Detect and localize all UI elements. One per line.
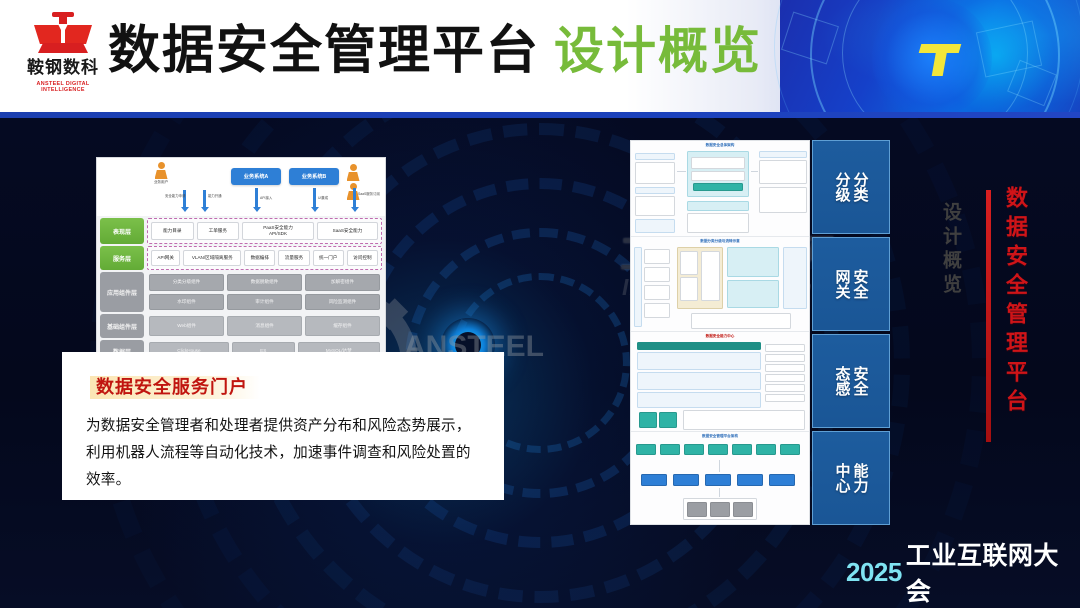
company-name-en: ANSTEEL DIGITAL INTELLIGENCE <box>16 81 110 93</box>
t-node <box>705 474 731 486</box>
t-node <box>680 277 698 301</box>
t-node <box>687 502 707 517</box>
t-node <box>683 410 805 430</box>
arrow-label-3: UI集成 <box>318 196 328 200</box>
thumb-caption: 数据分类分级与流转示意 <box>631 239 809 244</box>
portal-heading: 数据安全服务门户 <box>90 372 256 401</box>
t-node <box>701 251 720 301</box>
t-node <box>732 444 752 455</box>
t-node <box>765 344 805 352</box>
conference-logo-main: 2025 工业互联网大会 <box>846 536 1068 608</box>
t-connector <box>719 488 720 497</box>
t-node <box>641 474 667 486</box>
t-node <box>635 196 675 216</box>
arch-cell: 流量服务 <box>278 250 309 266</box>
arch-cell: SaaS安全能力 <box>317 222 378 240</box>
t-node <box>637 392 761 408</box>
thumb-classification-grading[interactable]: 数据分类分级与流转示意 <box>631 237 809 332</box>
t-node <box>727 280 779 308</box>
portal-description-card: 数据安全服务门户 为数据安全管理者和处理者提供资产分布和风险态势展示，利用机器人… <box>62 352 504 500</box>
t-node <box>687 213 749 233</box>
layer-cells-1: API网关 VLAN/区域隔离服务 数据编排 流量服务 统一门户 访问控制 <box>147 246 382 270</box>
arch-cell: VLAN/区域隔离服务 <box>183 250 241 266</box>
t-node <box>687 201 749 211</box>
arch-cell: Web组件 <box>149 316 224 336</box>
conference-logo: 2025 工业互联网大会 INDUSTRIAL INTERNET CONFERE… <box>846 536 1068 580</box>
header-tech-graphic <box>780 0 1080 116</box>
arrow-capability-request <box>183 190 186 208</box>
vertical-accent-bar <box>986 190 991 442</box>
conference-year: 2025 <box>846 557 902 588</box>
card-col-right: 安全 <box>852 366 869 396</box>
t-connector <box>751 171 758 172</box>
anvil-logo-icon <box>32 12 94 56</box>
portal-heading-text: 数据安全服务门户 <box>96 377 248 398</box>
t-node <box>637 342 761 350</box>
t-node <box>780 444 800 455</box>
arch-cell: 数据编排 <box>244 250 275 266</box>
arrow-capability-open <box>203 190 206 208</box>
t-connector <box>677 171 686 172</box>
t-node <box>644 267 670 282</box>
system-a-label: 业务系统A <box>244 173 269 180</box>
architecture-layer-row: 表现层 能力目录 工单服务 PaaS安全能力 API/SDK SaaS安全能力 <box>100 218 382 244</box>
architecture-layer-row: 应用组件层 分类分级组件 数据脱敏组件 加解密组件 水印组件 审计组件 风险监测… <box>100 272 382 312</box>
t-node <box>691 313 791 329</box>
t-node <box>691 157 745 169</box>
layer-cells-2: 分类分级组件 数据脱敏组件 加解密组件 水印组件 审计组件 风险监测组件 <box>147 272 382 312</box>
t-connector <box>719 460 720 472</box>
arch-cell: 加解密组件 <box>305 274 380 291</box>
t-node <box>765 394 805 402</box>
card-col-left: 中心 <box>834 463 851 493</box>
thumbnail-panel: 数据安全总体架构 数据分类分级与流转示意 <box>630 140 810 525</box>
card-classification-grading[interactable]: 分类 分级 <box>812 140 890 234</box>
t-node <box>765 384 805 392</box>
page-title: 数据安全管理平台 <box>108 20 540 82</box>
t-node <box>684 444 704 455</box>
architecture-layer-row: 基础组件层 Web组件 消息组件 缓存组件 <box>100 314 382 338</box>
conference-name-cn: 工业互联网大会 <box>906 536 1068 608</box>
t-node <box>759 151 807 158</box>
card-capability-center[interactable]: 能力 中心 <box>812 431 890 525</box>
t-node <box>710 502 730 517</box>
card-col-right: 分类 <box>852 172 869 202</box>
arch-cell: API网关 <box>151 250 180 266</box>
thumb-capability-center[interactable]: 数据安全能力中心 <box>631 332 809 432</box>
company-name-cn: 鞍钢数科 <box>16 58 110 78</box>
arch-cell: 工单服务 <box>197 222 240 240</box>
vertical-main-title: 数据安全管理平台 <box>998 186 1030 418</box>
arch-cell: 访问控制 <box>347 250 378 266</box>
card-col-left: 分级 <box>834 172 851 202</box>
actor-saas-user <box>345 164 361 186</box>
layer-label-1: 服务层 <box>100 246 144 270</box>
t-node <box>691 171 745 181</box>
t-node <box>634 247 642 327</box>
t-node <box>693 183 743 191</box>
t-node <box>637 352 761 370</box>
system-a-box: 业务系统A <box>231 168 281 185</box>
t-node <box>727 247 779 277</box>
arrow-saas-subscribe <box>353 188 356 208</box>
thumb-caption: 数据安全管理平台架构 <box>631 434 809 439</box>
arch-cell: 分类分级组件 <box>149 274 224 291</box>
arch-cell: 缓存组件 <box>305 316 380 336</box>
system-b-label: 业务系统B <box>302 173 327 180</box>
t-node <box>769 474 795 486</box>
t-node <box>660 444 680 455</box>
layer-label-2: 应用组件层 <box>100 272 144 312</box>
layer-label-3: 基础组件层 <box>100 314 144 338</box>
arch-cell: 能力目录 <box>151 222 194 240</box>
t-node <box>644 285 670 300</box>
thumb-caption: 数据安全总体架构 <box>631 143 809 148</box>
t-node <box>733 502 753 517</box>
arch-cell: 消息组件 <box>227 316 302 336</box>
t-node <box>644 303 670 318</box>
t-node <box>673 474 699 486</box>
card-col-left: 网关 <box>834 269 851 299</box>
t-node <box>756 444 776 455</box>
arrow-label-4: SaaS服务订阅 <box>358 192 376 196</box>
architecture-layer-row: 服务层 API网关 VLAN/区域隔离服务 数据编排 流量服务 统一门户 访问控… <box>100 246 382 270</box>
t-node <box>635 187 675 194</box>
tech-t-logo-icon <box>918 44 962 76</box>
arch-cell: 数据脱敏组件 <box>227 274 302 291</box>
t-node <box>644 249 670 264</box>
system-b-box: 业务系统B <box>289 168 339 185</box>
t-node <box>637 372 761 390</box>
t-node <box>765 364 805 372</box>
thumb-caption: 数据安全能力中心 <box>631 334 809 339</box>
capability-card-stack: 分类 分级 安全 网关 安全 态感 能力 中心 <box>812 140 890 525</box>
arrow-api-access <box>255 188 258 208</box>
actor-business-user: 业务用户 <box>153 162 169 184</box>
layer-cells-3: Web组件 消息组件 缓存组件 <box>147 314 382 338</box>
card-col-right: 能力 <box>852 463 869 493</box>
arch-cell: 审计组件 <box>227 294 302 311</box>
card-security-gateway[interactable]: 安全 网关 <box>812 237 890 331</box>
t-node <box>635 162 675 184</box>
card-col-left: 态感 <box>834 366 851 396</box>
t-node <box>783 247 807 309</box>
page-title-accent: 设计概览 <box>554 20 762 82</box>
actor-label: 业务用户 <box>153 180 169 185</box>
t-node <box>635 219 675 233</box>
t-node <box>635 153 675 160</box>
thumb-platform-blocks[interactable]: 数据安全管理平台架构 <box>631 432 809 525</box>
card-security-situation[interactable]: 安全 态感 <box>812 334 890 428</box>
t-node <box>737 474 763 486</box>
slide-header: 鞍钢数科 ANSTEEL DIGITAL INTELLIGENCE 数据安全管理… <box>0 0 1080 116</box>
architecture-top-zone: 业务用户 业务系统A 业务系统B 安全能力申请 能力开通 API接入 UI集成 … <box>97 158 385 216</box>
company-logo: 鞍钢数科 ANSTEEL DIGITAL INTELLIGENCE <box>16 10 110 102</box>
portal-description-text: 为数据安全管理者和处理者提供资产分布和风险态势展示，利用机器人流程等自动化技术，… <box>86 412 484 493</box>
arch-cell: 水印组件 <box>149 294 224 311</box>
t-node <box>639 412 657 428</box>
slide-title: 数据安全管理平台 设计概览 <box>108 20 762 82</box>
t-node <box>680 251 698 275</box>
t-node <box>708 444 728 455</box>
arrow-ui-integration <box>313 188 316 208</box>
vertical-subtitle: 设计概览 <box>938 202 965 298</box>
t-node <box>659 412 677 428</box>
t-node <box>759 187 807 213</box>
arch-cell: 统一门户 <box>313 250 344 266</box>
t-node <box>765 374 805 382</box>
t-node <box>636 444 656 455</box>
t-node <box>765 354 805 362</box>
presentation-slide: 鞍钢数科 ANSTEEL DIGITAL INTELLIGENCE 数据安全管理… <box>0 0 1080 608</box>
card-col-right: 安全 <box>852 269 869 299</box>
arch-cell: 风险监测组件 <box>305 294 380 311</box>
arrow-label-2: API接入 <box>260 196 272 200</box>
arrow-label-0: 安全能力申请 <box>165 194 181 198</box>
t-node <box>759 160 807 184</box>
arch-cell: PaaS安全能力 API/SDK <box>242 222 314 240</box>
layer-label-0: 表现层 <box>100 218 144 244</box>
architecture-diagram: 业务用户 业务系统A 业务系统B 安全能力申请 能力开通 API接入 UI集成 … <box>96 157 386 370</box>
arrow-label-1: 能力开通 <box>208 194 224 198</box>
thumb-overview-architecture[interactable]: 数据安全总体架构 <box>631 141 809 237</box>
layer-cells-0: 能力目录 工单服务 PaaS安全能力 API/SDK SaaS安全能力 <box>147 218 382 244</box>
